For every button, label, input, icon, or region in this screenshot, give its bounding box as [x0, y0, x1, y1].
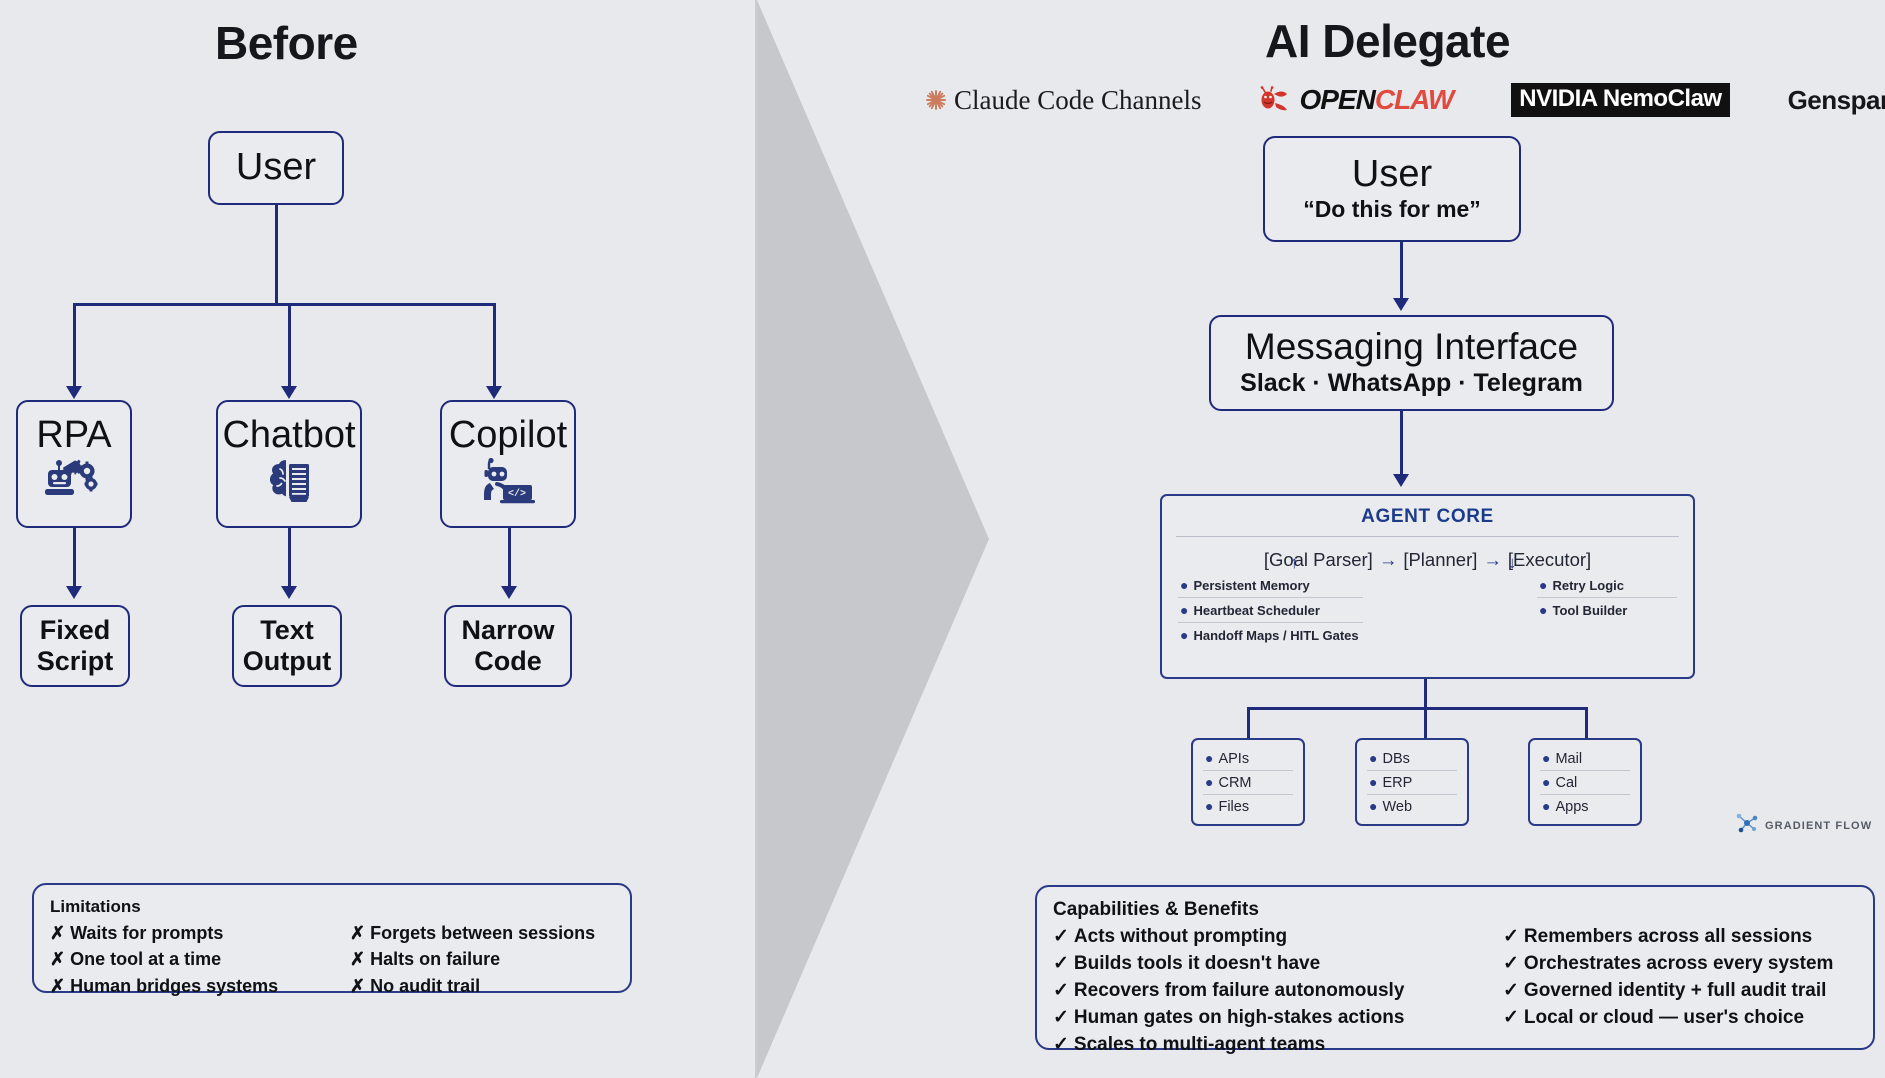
node-user-ai-delegate: User “Do this for me” [1263, 136, 1521, 242]
core-up-arrow-icon: ↑ [1290, 553, 1299, 573]
limitations-column-2: ✗Forgets between sessions ✗Halts on fail… [350, 920, 595, 999]
logo-label-claw: CLAW [1375, 84, 1453, 116]
logo-openclaw: OPENCLAW [1259, 84, 1453, 116]
bullet-icon: ● [1539, 602, 1547, 618]
capability-item: ✓Remembers across all sessions [1503, 924, 1833, 951]
node-label-line2: Code [474, 646, 542, 677]
logo-nvidia-nemoclaw: NVIDIA NemoClaw [1511, 83, 1729, 117]
connector-to-rpa [73, 303, 76, 388]
cross-icon: ✗ [350, 920, 365, 946]
check-icon: ✓ [1503, 924, 1519, 951]
capability-item: ✓Local or cloud — user's choice [1503, 1005, 1833, 1032]
cross-icon: ✗ [50, 920, 65, 946]
page-title-before: Before [215, 16, 358, 70]
tool-item: ●Cal [1540, 771, 1630, 795]
tool-item: ●ERP [1367, 771, 1457, 795]
tool-box-integrations: ●APIs ●CRM ●Files [1191, 738, 1305, 826]
capabilities-column-2: ✓Remembers across all sessions ✓Orchestr… [1503, 924, 1833, 1059]
node-label-line1: Text [260, 615, 314, 646]
connector-to-tool-1 [1247, 707, 1250, 738]
check-icon: ✓ [1053, 1032, 1069, 1059]
limitation-item: ✗Halts on failure [350, 946, 595, 972]
limitation-item: ✗One tool at a time [50, 946, 350, 972]
logo-strip: Claude Code Channels OPENCLAW [925, 82, 1885, 118]
core-down-arrow-icon: ↓ [1508, 553, 1517, 573]
capability-item: ✓Recovers from failure autonomously [1053, 978, 1503, 1005]
tool-item: ●Files [1203, 795, 1293, 818]
arrowhead-to-chatbot [281, 386, 297, 399]
svg-text:</>: </> [508, 488, 526, 500]
check-icon: ✓ [1053, 951, 1069, 978]
node-label: User [1352, 155, 1432, 195]
capabilities-panel: Capabilities & Benefits ✓Acts without pr… [1035, 885, 1875, 1050]
limitation-item: ✗Waits for prompts [50, 920, 350, 946]
robot-gears-icon [42, 456, 106, 506]
logo-label: NVIDIA NemoClaw [1511, 83, 1729, 117]
connector-rpa-to-fixed [73, 528, 76, 588]
bullet-icon: ● [1205, 798, 1213, 814]
arrowhead-to-copilot [486, 386, 502, 399]
network-nodes-icon [1735, 812, 1759, 839]
cross-icon: ✗ [350, 973, 365, 999]
cross-icon: ✗ [350, 946, 365, 972]
pipeline-arrow-icon: → [1373, 549, 1404, 570]
connector-core-trunk [1424, 679, 1427, 709]
capability-item: ✓Governed identity + full audit trail [1503, 978, 1833, 1005]
connector-user-to-messaging [1400, 242, 1403, 302]
divider [1176, 536, 1679, 537]
arrowhead-to-rpa [66, 386, 82, 399]
node-rpa: RPA [16, 400, 132, 528]
pipeline-stage-planner: [Planner] [1403, 549, 1477, 570]
check-icon: ✓ [1503, 978, 1519, 1005]
node-label: Copilot [449, 416, 567, 456]
check-icon: ✓ [1503, 1005, 1519, 1032]
connector-user-bus [73, 303, 493, 306]
bullet-icon: ● [1369, 774, 1377, 790]
capability-item: ✓Human gates on high-stakes actions [1053, 1005, 1503, 1032]
node-messaging-interface: Messaging Interface Slack · WhatsApp · T… [1209, 315, 1614, 411]
connector-tools-bus [1247, 707, 1587, 710]
pipeline-arrow-icon: → [1477, 549, 1508, 570]
node-label-line1: Narrow [461, 615, 554, 646]
arrowhead-to-text [281, 586, 297, 599]
connector-chatbot-to-text [288, 528, 291, 588]
bullet-icon: ● [1539, 577, 1547, 593]
node-copilot: Copilot </> [440, 400, 576, 528]
agent-core-memory-column: ●Persistent Memory ●Heartbeat Scheduler … [1178, 573, 1363, 647]
tool-item: ●CRM [1203, 771, 1293, 795]
pipeline-stage-goal-parser: [Goal Parser] [1264, 549, 1373, 570]
diagram-canvas: Before User RPA [0, 0, 1885, 1078]
capabilities-heading: Capabilities & Benefits [1053, 899, 1857, 921]
limitations-panel: Limitations ✗Waits for prompts ✗One tool… [32, 883, 632, 993]
arrowhead-to-messaging [1393, 298, 1409, 311]
bullet-icon: ● [1369, 798, 1377, 814]
tool-item: ●DBs [1367, 747, 1457, 771]
limitation-item: ✗Human bridges systems [50, 973, 350, 999]
robot-coder-icon: </> [477, 456, 539, 506]
tool-item: ●Web [1367, 795, 1457, 818]
core-item: ●Persistent Memory [1178, 573, 1363, 598]
core-item: ●Handoff Maps / HITL Gates [1178, 623, 1363, 647]
connector-to-tool-3 [1585, 707, 1588, 738]
node-text-output: Text Output [232, 605, 342, 687]
connector-to-chatbot [288, 303, 291, 388]
watermark-label: GRADIENT FLOW [1765, 820, 1872, 832]
bullet-icon: ● [1542, 750, 1550, 766]
node-chatbot: Chatbot [216, 400, 362, 528]
capabilities-column-1: ✓Acts without prompting ✓Builds tools it… [1053, 924, 1503, 1059]
brain-document-icon [260, 456, 318, 506]
bullet-icon: ● [1205, 750, 1213, 766]
node-label: Chatbot [222, 416, 355, 456]
bullet-icon: ● [1180, 577, 1188, 593]
panel-divider [755, 0, 757, 1078]
limitations-column-1: ✗Waits for prompts ✗One tool at a time ✗… [50, 920, 350, 999]
logo-genspark-claw: Genspark Claw [1788, 85, 1885, 116]
connector-to-tool-2 [1424, 707, 1427, 738]
gradient-flow-watermark: GRADIENT FLOW [1735, 812, 1872, 839]
cross-icon: ✗ [50, 973, 65, 999]
transition-chevron [757, 0, 989, 1078]
node-label-line2: Script [37, 646, 114, 677]
limitations-heading: Limitations [50, 897, 614, 917]
node-fixed-script: Fixed Script [20, 605, 130, 687]
node-label: Messaging Interface [1245, 328, 1578, 367]
tool-item: ●APIs [1203, 747, 1293, 771]
check-icon: ✓ [1053, 1005, 1069, 1032]
node-quote: “Do this for me” [1303, 196, 1481, 223]
bullet-icon: ● [1542, 774, 1550, 790]
bullet-icon: ● [1205, 774, 1213, 790]
node-label-line1: Fixed [40, 615, 111, 646]
check-icon: ✓ [1053, 978, 1069, 1005]
logo-claude-code-channels: Claude Code Channels [925, 85, 1201, 116]
logo-label: Claude Code Channels [954, 85, 1201, 116]
agent-core-title: AGENT CORE [1162, 506, 1693, 528]
agent-core-panel: AGENT CORE [Goal Parser]→[Planner]→[Exec… [1160, 494, 1695, 679]
core-item: ●Tool Builder [1537, 598, 1677, 622]
lobster-icon [1259, 86, 1297, 114]
agent-core-pipeline: [Goal Parser]→[Planner]→[Executor] [1162, 549, 1693, 571]
connector-to-copilot [493, 303, 496, 388]
connector-messaging-to-core [1400, 411, 1403, 476]
bullet-icon: ● [1180, 602, 1188, 618]
tool-item: ●Apps [1540, 795, 1630, 818]
check-icon: ✓ [1503, 951, 1519, 978]
node-label: RPA [36, 416, 111, 456]
limitation-item: ✗Forgets between sessions [350, 920, 595, 946]
logo-label-open: OPEN [1299, 84, 1374, 116]
limitation-item: ✗No audit trail [350, 973, 595, 999]
bullet-icon: ● [1180, 627, 1188, 643]
connector-copilot-to-narrow [508, 528, 511, 588]
agent-core-resilience-column: ●Retry Logic ●Tool Builder [1537, 573, 1677, 647]
arrowhead-to-fixed [66, 586, 82, 599]
node-label-line2: Output [243, 646, 331, 677]
capability-item: ✓Orchestrates across every system [1503, 951, 1833, 978]
core-item: ●Retry Logic [1537, 573, 1677, 598]
claude-burst-icon [925, 89, 947, 111]
pipeline-stage-executor: [Executor] [1508, 549, 1591, 570]
logo-label: Genspark Claw [1788, 85, 1885, 116]
node-user-before: User [208, 131, 344, 205]
tool-item: ●Mail [1540, 747, 1630, 771]
node-narrow-code: Narrow Code [444, 605, 572, 687]
bullet-icon: ● [1542, 798, 1550, 814]
cross-icon: ✗ [50, 946, 65, 972]
arrowhead-to-narrow [501, 586, 517, 599]
arrowhead-to-core [1393, 474, 1409, 487]
capability-item: ✓Acts without prompting [1053, 924, 1503, 951]
node-label: User [236, 148, 316, 188]
check-icon: ✓ [1053, 924, 1069, 951]
bullet-icon: ● [1369, 750, 1377, 766]
page-title-ai-delegate: AI Delegate [1265, 14, 1510, 68]
connector-user-trunk [275, 205, 278, 305]
core-item: ●Heartbeat Scheduler [1178, 598, 1363, 623]
tool-box-productivity: ●Mail ●Cal ●Apps [1528, 738, 1642, 826]
capability-item: ✓Builds tools it doesn't have [1053, 951, 1503, 978]
tool-box-datasources: ●DBs ●ERP ●Web [1355, 738, 1469, 826]
capability-item: ✓Scales to multi-agent teams [1053, 1032, 1503, 1059]
node-channels: Slack · WhatsApp · Telegram [1240, 369, 1583, 398]
